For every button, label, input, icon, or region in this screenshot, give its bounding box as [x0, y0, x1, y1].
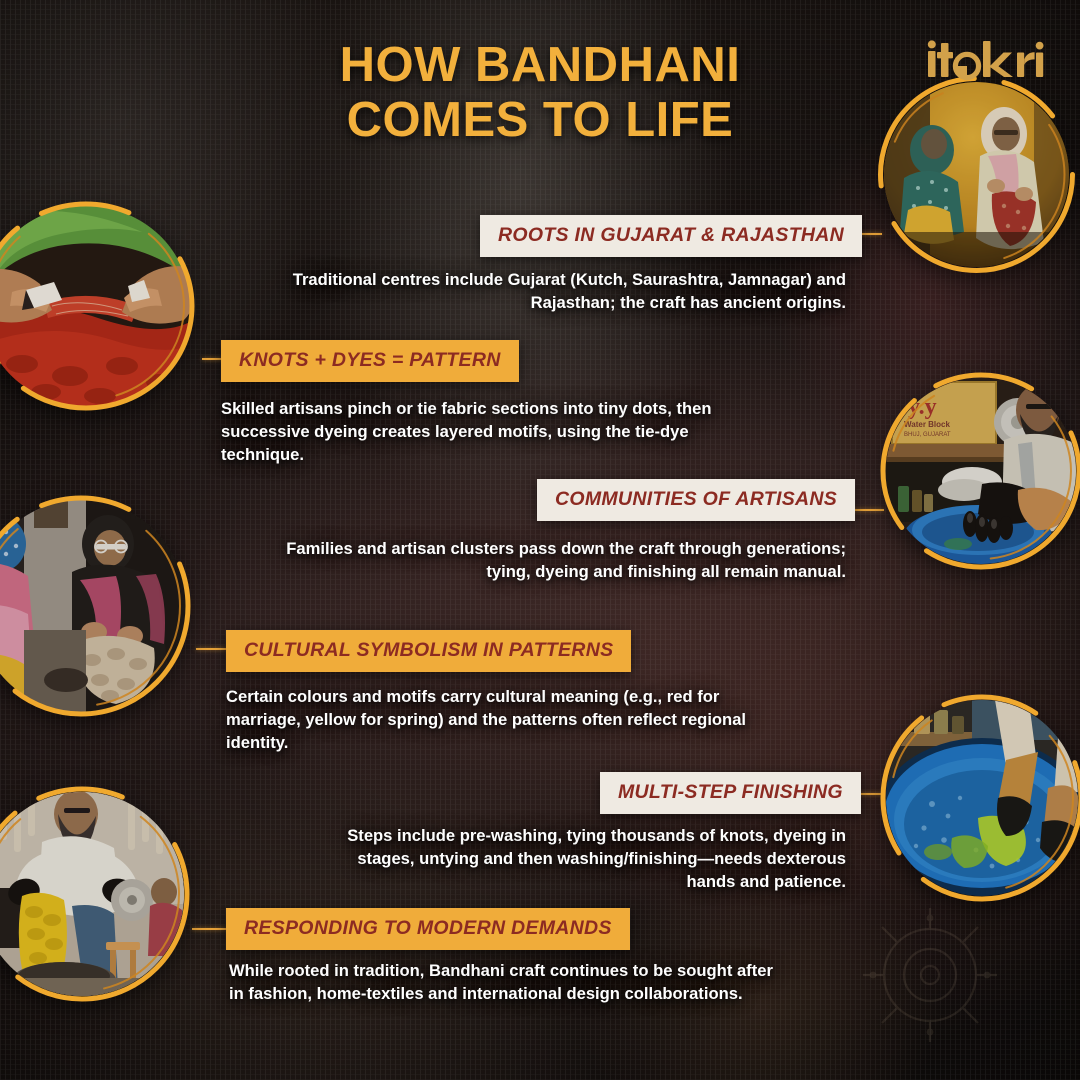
- photo-yellow-cloth: [0, 792, 184, 996]
- section-heading-modern-demands: RESPONDING TO MODERN DEMANDS: [226, 908, 630, 950]
- photo-dyer-tub: y.y Water Block BHUJ, GUJARAT: [886, 378, 1076, 564]
- page-title-line-1: HOW BANDHANI: [340, 38, 741, 92]
- photo-yellow-cloth-image: [0, 792, 184, 996]
- section-body-communities: Families and artisan clusters pass down …: [246, 538, 846, 584]
- section-body-knots-dyes: Skilled artisans pinch or tie fabric sec…: [221, 398, 751, 467]
- section-heading-communities: COMMUNITIES OF ARTISANS: [537, 479, 855, 521]
- section-heading-finishing: MULTI-STEP FINISHING: [600, 772, 861, 814]
- connector-modern: [192, 928, 226, 930]
- itokri-logo-wordmark: [926, 39, 1044, 85]
- section-heading-knots-dyes: KNOTS + DYES = PATTERN: [221, 340, 519, 382]
- itokri-logo[interactable]: [926, 40, 1044, 84]
- section-heading-symbolism: CULTURAL SYMBOLISM IN PATTERNS: [226, 630, 631, 672]
- photo-hands-red: [0, 206, 190, 406]
- bandhani-motif-watermark: [820, 890, 1040, 1060]
- photo-dyer-tub-image: y.y Water Block BHUJ, GUJARAT: [886, 378, 1076, 564]
- section-heading-roots: ROOTS IN GUJARAT & RAJASTHAN: [480, 215, 862, 257]
- section-body-symbolism: Certain colours and motifs carry cultura…: [226, 686, 766, 755]
- section-body-roots: Traditional centres include Gujarat (Kut…: [286, 269, 846, 315]
- photo-dye-vat-image: [886, 700, 1078, 896]
- section-body-modern-demands: While rooted in tradition, Bandhani craf…: [229, 960, 785, 1006]
- photo-dye-vat: [886, 700, 1078, 896]
- photo-elder-woman-image: [0, 500, 186, 712]
- page-title: HOW BANDHANI COMES TO LIFE: [0, 38, 1080, 148]
- photo-hands-red-image: [0, 206, 190, 406]
- section-body-finishing: Steps include pre-washing, tying thousan…: [322, 825, 846, 894]
- connector-symbolism: [196, 648, 226, 650]
- photo-elder-woman: [0, 500, 186, 712]
- page-title-line-2: COMES TO LIFE: [0, 93, 1080, 148]
